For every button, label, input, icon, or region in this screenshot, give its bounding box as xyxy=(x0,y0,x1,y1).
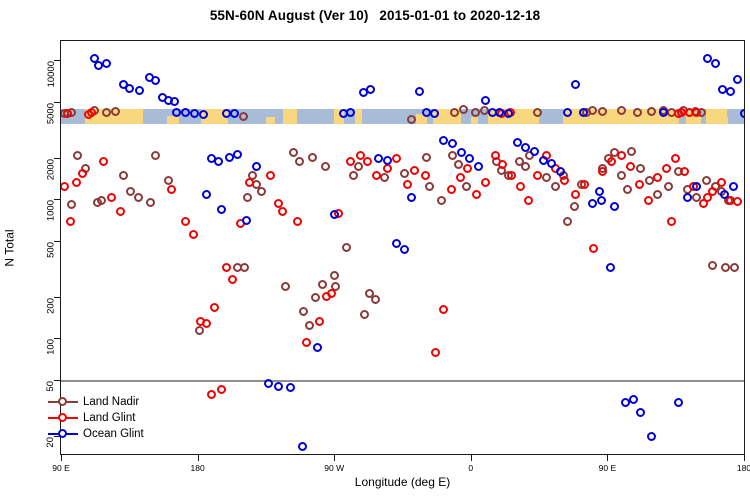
legend-marker xyxy=(58,429,67,438)
data-point-ocean-glint xyxy=(474,162,483,171)
data-point-ocean-glint xyxy=(233,150,242,159)
data-point-ocean-glint xyxy=(610,202,619,211)
data-point-land-glint xyxy=(421,171,430,180)
land-detail-0 xyxy=(167,116,179,124)
data-point-ocean-glint xyxy=(521,143,530,152)
data-point-land-nadir xyxy=(570,202,579,211)
legend: Land NadirLand GlintOcean Glint xyxy=(48,394,144,442)
x-tick-mark xyxy=(471,455,472,461)
data-point-land-glint xyxy=(63,109,72,118)
data-point-land-nadir xyxy=(321,162,330,171)
data-point-land-nadir xyxy=(425,182,434,191)
data-point-land-glint xyxy=(87,108,96,117)
data-point-ocean-glint xyxy=(199,110,208,119)
data-point-land-glint xyxy=(717,178,726,187)
chart-title: 55N-60N August (Ver 10)2015-01-01 to 202… xyxy=(0,8,750,23)
data-point-land-glint xyxy=(403,180,412,189)
data-point-land-nadir xyxy=(360,310,369,319)
y-tick-label: 100 xyxy=(46,339,57,355)
data-point-land-nadir xyxy=(454,160,463,169)
land-detail-8 xyxy=(718,117,728,125)
data-point-ocean-glint xyxy=(629,395,638,404)
data-point-land-glint xyxy=(439,305,448,314)
data-point-ocean-glint xyxy=(595,187,604,196)
data-point-ocean-glint xyxy=(274,382,283,391)
data-point-land-glint xyxy=(703,193,712,202)
data-point-land-nadir xyxy=(617,171,626,180)
y-tick-label: 500 xyxy=(46,242,57,258)
data-point-ocean-glint xyxy=(214,157,223,166)
data-point-ocean-glint xyxy=(313,343,322,352)
data-point-ocean-glint xyxy=(726,87,735,96)
data-point-land-nadir xyxy=(311,293,320,302)
data-point-ocean-glint xyxy=(720,190,729,199)
data-point-land-nadir xyxy=(450,108,459,117)
legend-label: Land Glint xyxy=(83,412,135,424)
data-point-ocean-glint xyxy=(217,205,226,214)
data-point-land-glint xyxy=(533,171,542,180)
data-point-land-glint xyxy=(167,185,176,194)
data-point-land-glint xyxy=(189,230,198,239)
legend-swatch xyxy=(48,395,78,409)
data-point-ocean-glint xyxy=(383,156,392,165)
y-tick-label: 2000 xyxy=(46,159,57,180)
data-point-land-glint xyxy=(266,171,275,180)
data-point-land-nadir xyxy=(623,185,632,194)
y-tick-label: 5000 xyxy=(46,103,57,124)
legend-marker xyxy=(58,413,67,422)
data-point-land-nadir xyxy=(195,326,204,335)
data-point-ocean-glint xyxy=(659,108,668,117)
legend-item-ocean-glint: Ocean Glint xyxy=(48,426,144,442)
data-point-ocean-glint xyxy=(530,147,539,156)
data-point-land-glint xyxy=(66,217,75,226)
data-point-ocean-glint xyxy=(597,196,606,205)
data-point-land-glint xyxy=(662,164,671,173)
data-point-ocean-glint xyxy=(579,108,588,117)
data-point-land-glint xyxy=(222,263,231,272)
data-point-land-glint xyxy=(456,173,465,182)
data-point-land-nadir xyxy=(653,190,662,199)
data-point-land-glint xyxy=(481,178,490,187)
data-point-land-glint xyxy=(278,207,287,216)
x-tick-label: 90 W xyxy=(324,463,344,473)
data-point-ocean-glint xyxy=(733,75,742,84)
data-point-land-glint xyxy=(315,317,324,326)
data-point-land-glint xyxy=(607,157,616,166)
data-point-ocean-glint xyxy=(151,76,160,85)
data-point-ocean-glint xyxy=(683,193,692,202)
x-tick-label: 0 xyxy=(468,463,473,473)
data-point-land-glint xyxy=(60,182,69,191)
data-point-land-nadir xyxy=(422,153,431,162)
land-detail-3 xyxy=(355,109,362,124)
data-point-ocean-glint xyxy=(571,80,580,89)
data-point-land-glint xyxy=(202,319,211,328)
data-point-land-nadir xyxy=(281,282,290,291)
data-point-land-glint xyxy=(78,169,87,178)
data-point-land-nadir xyxy=(542,173,551,182)
data-point-land-glint xyxy=(392,154,401,163)
data-point-land-glint xyxy=(302,338,311,347)
data-point-land-glint xyxy=(99,157,108,166)
x-tick-label: 180 xyxy=(191,463,205,473)
legend-item-land-nadir: Land Nadir xyxy=(48,394,144,410)
x-axis-label: Longitude (deg E) xyxy=(60,475,745,489)
y-tick-label: 200 xyxy=(46,298,57,314)
data-point-land-nadir xyxy=(164,176,173,185)
data-point-land-nadir xyxy=(371,295,380,304)
data-point-ocean-glint xyxy=(547,159,556,168)
data-point-land-glint xyxy=(680,167,689,176)
data-point-land-glint xyxy=(447,185,456,194)
data-point-ocean-glint xyxy=(252,162,261,171)
data-point-land-nadir xyxy=(617,106,626,115)
data-point-land-nadir xyxy=(67,200,76,209)
data-point-ocean-glint xyxy=(588,199,597,208)
data-point-land-glint xyxy=(491,151,500,160)
data-point-ocean-glint xyxy=(692,182,701,191)
data-point-ocean-glint xyxy=(647,432,656,441)
data-point-ocean-glint xyxy=(465,154,474,163)
data-point-land-glint xyxy=(181,217,190,226)
data-point-land-glint xyxy=(245,178,254,187)
data-point-land-glint xyxy=(217,385,226,394)
data-point-ocean-glint xyxy=(330,210,339,219)
data-point-land-glint xyxy=(626,162,635,171)
data-point-land-nadir xyxy=(240,263,249,272)
x-tick-label: 90 E xyxy=(52,463,70,473)
land-detail-5 xyxy=(471,117,478,124)
data-point-land-glint xyxy=(210,303,219,312)
data-point-land-nadir xyxy=(151,151,160,160)
data-point-ocean-glint xyxy=(636,408,645,417)
data-point-land-nadir xyxy=(708,261,717,270)
data-point-ocean-glint xyxy=(606,263,615,272)
data-point-land-nadir xyxy=(563,217,572,226)
data-point-land-glint xyxy=(322,292,331,301)
data-point-land-nadir xyxy=(349,171,358,180)
data-point-ocean-glint xyxy=(407,193,416,202)
data-point-land-nadir xyxy=(400,169,409,178)
data-point-land-glint xyxy=(560,176,569,185)
data-point-ocean-glint xyxy=(481,96,490,105)
x-tick-label: 180 xyxy=(737,463,750,473)
data-point-ocean-glint xyxy=(430,109,439,118)
data-point-land-glint xyxy=(580,180,589,189)
data-point-land-nadir xyxy=(73,151,82,160)
data-point-land-glint xyxy=(207,390,216,399)
data-point-land-glint xyxy=(644,196,653,205)
data-point-land-nadir xyxy=(380,173,389,182)
x-tick-mark xyxy=(607,455,608,461)
figure-canvas: 55N-60N August (Ver 10)2015-01-01 to 202… xyxy=(0,0,750,500)
data-point-land-glint xyxy=(363,157,372,166)
data-point-land-nadir xyxy=(239,112,248,121)
data-point-ocean-glint xyxy=(366,85,375,94)
data-point-land-nadir xyxy=(146,198,155,207)
ocean-span-6 xyxy=(539,109,563,124)
data-point-land-glint xyxy=(571,190,580,199)
x-tick-mark xyxy=(198,455,199,461)
data-point-land-glint xyxy=(383,164,392,173)
data-point-ocean-glint xyxy=(400,245,409,254)
plot-area xyxy=(60,40,745,455)
data-point-land-glint xyxy=(653,173,662,182)
legend-item-land-glint: Land Glint xyxy=(48,410,144,426)
chart-title-main: 55N-60N August (Ver 10) xyxy=(210,8,369,23)
data-point-land-glint xyxy=(598,167,607,176)
data-point-ocean-glint xyxy=(286,383,295,392)
data-point-land-glint xyxy=(507,171,516,180)
data-point-land-glint xyxy=(463,164,472,173)
data-point-land-glint xyxy=(498,160,507,169)
data-point-ocean-glint xyxy=(230,109,239,118)
data-point-land-glint xyxy=(228,275,237,284)
reference-line-50 xyxy=(61,380,744,382)
data-point-land-glint xyxy=(671,154,680,163)
data-point-land-nadir xyxy=(448,151,457,160)
x-tick-mark xyxy=(61,455,62,461)
data-point-land-nadir xyxy=(243,193,252,202)
y-axis: 205010020050010002000500010000 xyxy=(0,40,60,455)
data-point-ocean-glint xyxy=(264,379,273,388)
data-point-ocean-glint xyxy=(298,442,307,451)
data-point-land-nadir xyxy=(354,162,363,171)
data-point-ocean-glint xyxy=(170,97,179,106)
data-point-ocean-glint xyxy=(181,108,190,117)
data-point-ocean-glint xyxy=(439,136,448,145)
data-point-land-glint xyxy=(516,182,525,191)
data-point-land-nadir xyxy=(521,162,530,171)
data-point-land-glint xyxy=(617,151,626,160)
data-point-land-nadir xyxy=(305,321,314,330)
data-point-land-nadir xyxy=(330,271,339,280)
data-point-land-nadir xyxy=(627,147,636,156)
data-point-ocean-glint xyxy=(374,154,383,163)
legend-swatch xyxy=(48,427,78,441)
data-point-land-nadir xyxy=(308,153,317,162)
data-point-land-nadir xyxy=(471,108,480,117)
data-point-ocean-glint xyxy=(125,84,134,93)
data-point-land-nadir xyxy=(295,157,304,166)
data-point-land-nadir xyxy=(97,196,106,205)
data-point-land-nadir xyxy=(730,263,739,272)
data-point-land-glint xyxy=(431,348,440,357)
data-point-ocean-glint xyxy=(135,86,144,95)
ocean-span-3 xyxy=(297,109,335,124)
data-point-land-nadir xyxy=(721,263,730,272)
y-tick-label: 50 xyxy=(46,381,57,392)
legend-swatch xyxy=(48,411,78,425)
data-point-land-nadir xyxy=(119,171,128,180)
data-point-land-nadir xyxy=(702,176,711,185)
data-point-ocean-glint xyxy=(415,87,424,96)
legend-label: Ocean Glint xyxy=(83,428,144,440)
legend-marker xyxy=(58,397,67,406)
data-point-land-glint xyxy=(635,180,644,189)
data-point-ocean-glint xyxy=(674,398,683,407)
data-point-land-glint xyxy=(667,217,676,226)
data-point-land-nadir xyxy=(437,196,446,205)
data-point-land-glint xyxy=(589,244,598,253)
data-point-ocean-glint xyxy=(448,139,457,148)
y-tick-label: 1000 xyxy=(46,200,57,221)
data-point-land-nadir xyxy=(318,280,327,289)
data-point-land-nadir xyxy=(257,187,266,196)
x-tick-label: 90 E xyxy=(599,463,617,473)
data-point-ocean-glint xyxy=(242,216,251,225)
data-point-land-nadir xyxy=(664,182,673,191)
chart-title-date-range: 2015-01-01 to 2020-12-18 xyxy=(379,8,540,23)
data-point-land-nadir xyxy=(636,164,645,173)
data-point-land-glint xyxy=(733,197,742,206)
data-point-land-nadir xyxy=(289,148,298,157)
y-tick-label: 10000 xyxy=(46,61,57,87)
data-point-land-glint xyxy=(524,196,533,205)
land-detail-2 xyxy=(266,117,276,125)
x-tick-mark xyxy=(334,455,335,461)
legend-label: Land Nadir xyxy=(83,396,139,408)
data-point-land-nadir xyxy=(551,182,560,191)
data-point-land-nadir xyxy=(633,108,642,117)
data-point-ocean-glint xyxy=(202,190,211,199)
data-point-land-nadir xyxy=(462,182,471,191)
data-point-ocean-glint xyxy=(102,59,111,68)
data-point-land-glint xyxy=(410,166,419,175)
data-point-land-nadir xyxy=(459,105,468,114)
data-point-land-glint xyxy=(293,217,302,226)
data-point-land-nadir xyxy=(647,107,656,116)
data-point-land-nadir xyxy=(299,307,308,316)
data-point-land-glint xyxy=(116,207,125,216)
data-point-land-nadir xyxy=(342,243,351,252)
x-tick-mark xyxy=(744,455,745,461)
data-point-ocean-glint xyxy=(711,59,720,68)
data-point-land-glint xyxy=(72,178,81,187)
data-point-land-glint xyxy=(472,190,481,199)
data-point-ocean-glint xyxy=(729,182,738,191)
data-point-land-nadir xyxy=(134,193,143,202)
data-point-land-glint xyxy=(107,193,116,202)
